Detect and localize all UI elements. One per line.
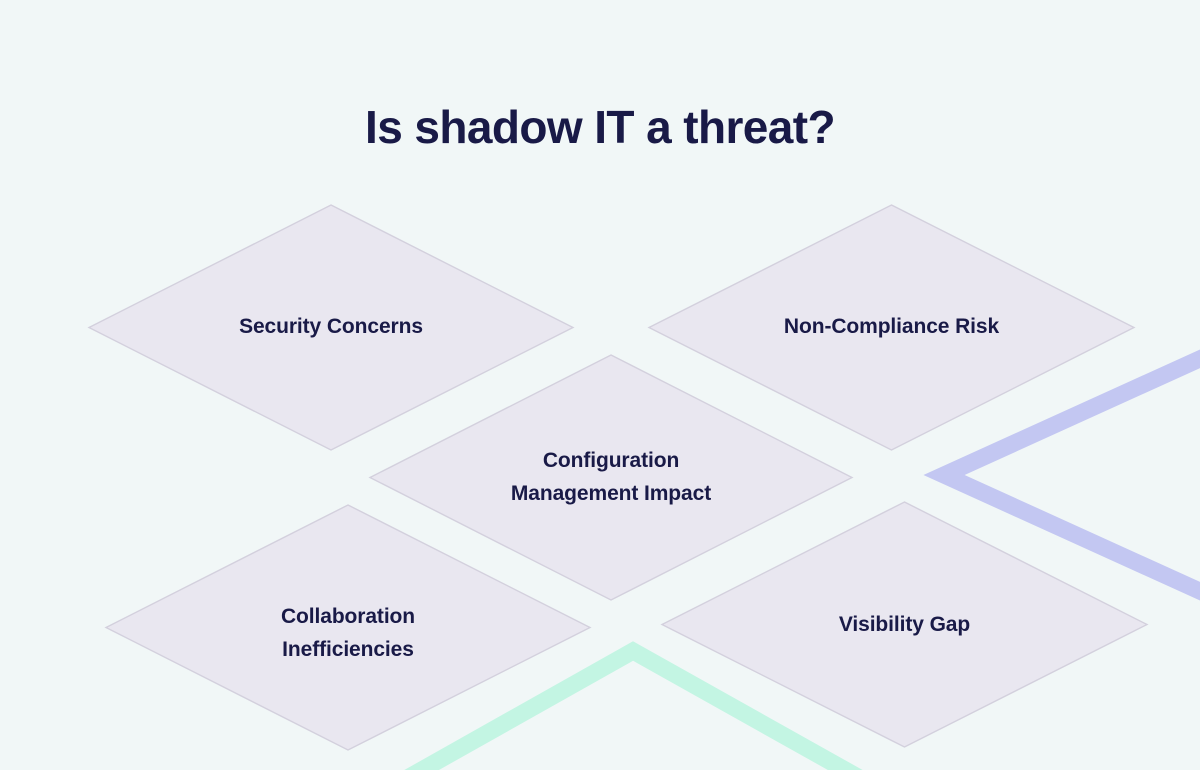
diamond-collaboration-inefficiencies[interactable] xyxy=(105,504,591,751)
infographic-canvas: Is shadow IT a threat? Security Concerns… xyxy=(0,0,1200,770)
diamond-visibility-gap[interactable] xyxy=(661,501,1148,748)
page-title: Is shadow IT a threat? xyxy=(0,96,1200,158)
